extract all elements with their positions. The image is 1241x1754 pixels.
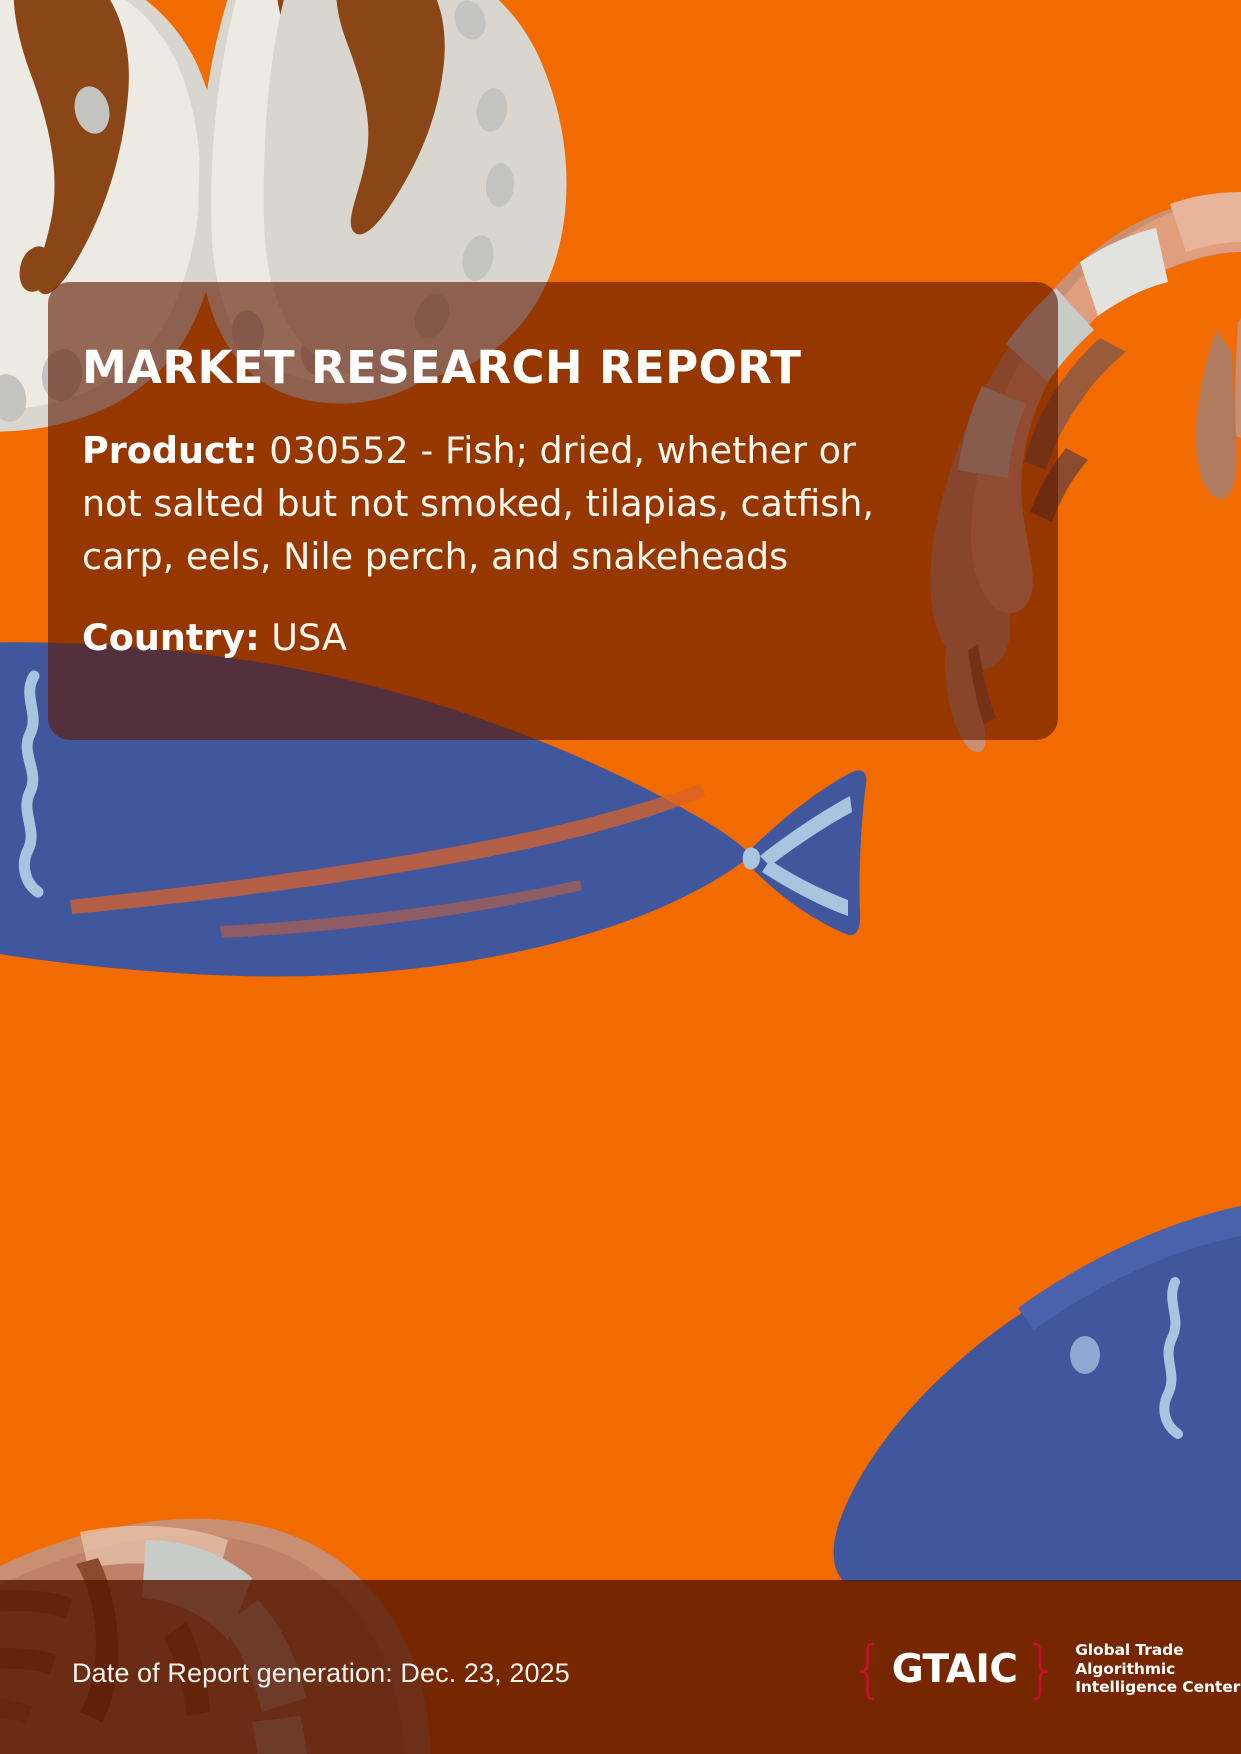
gtaic-logo: { GTAIC } Global Trade Algorithmic Intel… [851, 1641, 1241, 1697]
report-info-card: MARKET RESEARCH REPORT Product: 030552 -… [48, 282, 1058, 740]
product-field: Product: 030552 - Fish; dried, whether o… [82, 425, 922, 584]
logo-tagline-line1: Global Trade Algorithmic [1075, 1641, 1183, 1678]
product-label: Product: [82, 429, 258, 472]
footer: Date of Report generation: Dec. 23, 2025… [0, 1580, 1241, 1754]
country-field: Country: USA [82, 612, 922, 665]
background-illustration [0, 0, 1241, 1754]
country-label: Country: [82, 616, 260, 659]
page-title: MARKET RESEARCH REPORT [82, 344, 1000, 391]
logo-brace-right-icon: } [1024, 1638, 1058, 1701]
logo-brace-left-icon: { [851, 1638, 885, 1701]
logo-tagline: Global Trade Algorithmic Intelligence Ce… [1075, 1641, 1241, 1698]
report-generation-date: Date of Report generation: Dec. 23, 2025 [72, 1658, 570, 1689]
logo-wordmark: GTAIC [892, 1650, 1018, 1689]
country-value: USA [271, 616, 347, 659]
logo-tagline-line2: Intelligence Center [1075, 1678, 1240, 1696]
